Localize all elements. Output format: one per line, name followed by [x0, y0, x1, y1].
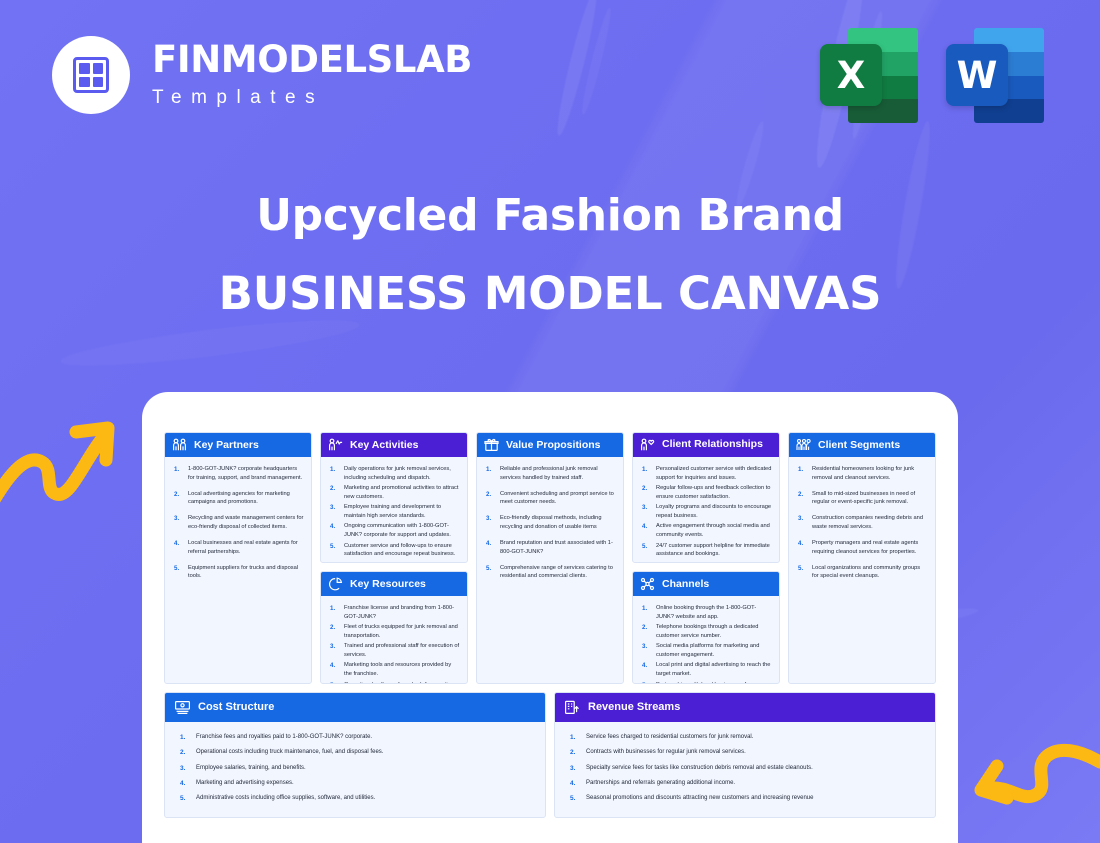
list-item: Franchise license and branding from 1-80… [328, 604, 460, 622]
title-line-1: Upcycled Fashion Brand [0, 193, 1100, 239]
list-item: Comprehensive range of services catering… [484, 564, 616, 582]
list-item: Service fees charged to residential cust… [566, 733, 924, 742]
list-item: Operational software for scheduling, rou… [328, 681, 460, 684]
list-item: Equipment suppliers for trucks and dispo… [172, 564, 304, 582]
list-item: Social media platforms for marketing and… [640, 642, 772, 660]
canvas-block-channels[interactable]: Channels Online booking through the 1-80… [632, 571, 780, 684]
canvas-block-items: Residential homeowners looking for junk … [796, 465, 928, 581]
format-icons: X W [814, 28, 1044, 123]
canvas-block-key-activities[interactable]: Key Activities Daily operations for junk… [320, 432, 468, 563]
money-bill-icon [174, 700, 191, 715]
canvas-block-title: Channels [662, 578, 709, 590]
list-item: Online booking through the 1-800-GOT-JUN… [640, 604, 772, 622]
list-item: Ongoing communication with 1-800-GOT-JUN… [328, 522, 460, 540]
canvas-block-key-partners[interactable]: Key Partners 1-800-GOT-JUNK? corporate h… [164, 432, 312, 684]
canvas-block-cost-structure[interactable]: Cost Structure Franchise fees and royalt… [164, 692, 546, 818]
canvas-block-title: Key Partners [194, 439, 259, 451]
canvas-block-value-propositions[interactable]: Value Propositions Reliable and professi… [476, 432, 624, 684]
person-heart-icon [640, 438, 655, 452]
person-activity-icon [328, 438, 343, 452]
list-item: Fleet of trucks equipped for junk remova… [328, 623, 460, 641]
grid-logo-icon [52, 36, 130, 114]
list-item: Active engagement through social media a… [640, 522, 772, 540]
list-item: Local print and digital advertising to r… [640, 661, 772, 679]
canvas-block-client-segments[interactable]: Client Segments Residential homeowners l… [788, 432, 936, 684]
list-item: Local organizations and community groups… [796, 564, 928, 582]
list-item: Residential homeowners looking for junk … [796, 465, 928, 483]
list-item: Eco-friendly disposal methods, including… [484, 514, 616, 532]
group-people-icon [796, 438, 811, 452]
list-item: Regular follow-ups and feedback collecti… [640, 484, 772, 502]
canvas-block-items: Daily operations for junk removal servic… [328, 465, 460, 559]
canvas-block-items: Personalized customer service with dedic… [640, 465, 772, 559]
brand-tagline: Templates [152, 87, 472, 109]
canvas-block-title: Value Propositions [506, 439, 601, 451]
list-item: Construction companies needing debris an… [796, 514, 928, 532]
list-item: Seasonal promotions and discounts attrac… [566, 794, 924, 803]
squiggly-arrow-up-right-icon [0, 412, 122, 517]
word-icon: W [940, 28, 1044, 123]
canvas-block-items: Reliable and professional junk removal s… [484, 465, 616, 581]
canvas-block-items: Online booking through the 1-800-GOT-JUN… [640, 604, 772, 684]
canvas-block-title: Client Segments [818, 439, 900, 451]
page-title: Upcycled Fashion Brand BUSINESS MODEL CA… [0, 193, 1100, 320]
brand-logo: FINMODELSLAB Templates [52, 36, 472, 114]
excel-letter: X [820, 44, 882, 106]
list-item: Telephone bookings through a dedicated c… [640, 623, 772, 641]
network-nodes-icon [640, 577, 655, 591]
canvas-block-client-relationships[interactable]: Client Relationships Personalized custom… [632, 432, 780, 563]
excel-icon: X [814, 28, 918, 123]
list-item: Trained and professional staff for execu… [328, 642, 460, 660]
list-item: Small to mid-sized businesses in need of… [796, 490, 928, 508]
canvas-block-items: 1-800-GOT-JUNK? corporate headquarters f… [172, 465, 304, 581]
poster-canvas: FINMODELSLAB Templates X W Upcycled Fash… [0, 0, 1100, 843]
list-item: Personalized customer service with dedic… [640, 465, 772, 483]
list-item: Local advertising agencies for marketing… [172, 490, 304, 508]
canvas-block-key-resources[interactable]: Key Resources Franchise license and bran… [320, 571, 468, 684]
canvas-block-title: Revenue Streams [588, 701, 680, 714]
two-people-icon [172, 438, 187, 452]
list-item: 24/7 customer support helpline for immed… [640, 542, 772, 560]
canvas-block-title: Key Activities [350, 439, 418, 451]
list-item: Franchise fees and royalties paid to 1-8… [176, 733, 534, 742]
list-item: Marketing and promotional activities to … [328, 484, 460, 502]
gift-icon [484, 438, 499, 452]
brush-stroke [60, 312, 361, 374]
list-item: Brand reputation and trust associated wi… [484, 539, 616, 557]
list-item: Marketing tools and resources provided b… [328, 661, 460, 679]
list-item: Operational costs including truck mainte… [176, 748, 534, 757]
list-item: Customer service and follow-ups to ensur… [328, 542, 460, 560]
list-item: Recycling and waste management centers f… [172, 514, 304, 532]
canvas-block-title: Client Relationships [662, 439, 763, 451]
canvas-block-title: Cost Structure [198, 701, 274, 714]
title-line-2: BUSINESS MODEL CANVAS [0, 267, 1100, 320]
brand-name: FINMODELSLAB [152, 41, 472, 78]
canvas-block-items: Service fees charged to residential cust… [566, 733, 924, 803]
word-letter: W [946, 44, 1008, 106]
list-item: Reliable and professional junk removal s… [484, 465, 616, 483]
business-model-canvas-board: Key Partners 1-800-GOT-JUNK? corporate h… [142, 392, 958, 843]
canvas-block-items: Franchise license and branding from 1-80… [328, 604, 460, 684]
list-item: Employee salaries, training, and benefit… [176, 764, 534, 773]
list-item: Specialty service fees for tasks like co… [566, 764, 924, 773]
squiggly-arrow-down-left-icon [967, 742, 1100, 840]
list-item: Convenient scheduling and prompt service… [484, 490, 616, 508]
list-item: Employee training and development to mai… [328, 503, 460, 521]
canvas-block-items: Franchise fees and royalties paid to 1-8… [176, 733, 534, 803]
list-item: Partnerships and referrals generating ad… [566, 779, 924, 788]
list-item: Property managers and real estate agents… [796, 539, 928, 557]
list-item: 1-800-GOT-JUNK? corporate headquarters f… [172, 465, 304, 483]
canvas-block-revenue-streams[interactable]: Revenue Streams Service fees charged to … [554, 692, 936, 818]
list-item: Partnerships with local businesses for c… [640, 681, 772, 684]
list-item: Loyalty programs and discounts to encour… [640, 503, 772, 521]
revenue-chart-icon [564, 700, 581, 715]
list-item: Contracts with businesses for regular ju… [566, 748, 924, 757]
list-item: Marketing and advertising expenses. [176, 779, 534, 788]
canvas-block-title: Key Resources [350, 578, 426, 590]
list-item: Local businesses and real estate agents … [172, 539, 304, 557]
list-item: Administrative costs including office su… [176, 794, 534, 803]
list-item: Daily operations for junk removal servic… [328, 465, 460, 483]
pie-chart-icon [328, 577, 343, 591]
